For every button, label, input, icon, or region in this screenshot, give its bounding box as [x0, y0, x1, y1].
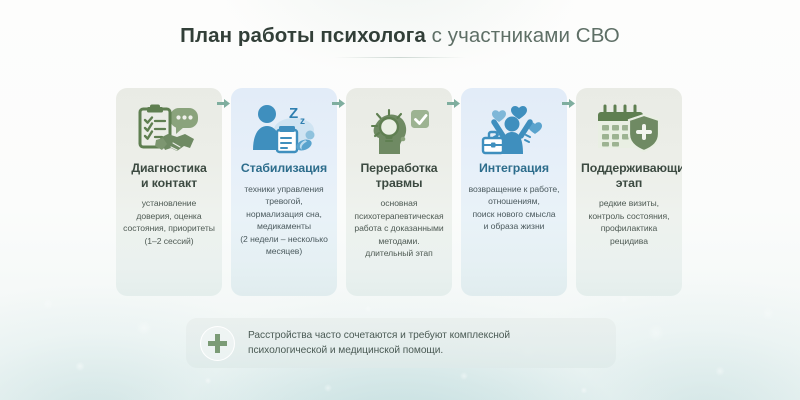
stage-card-title: Переработка травмы — [351, 161, 447, 190]
head-lightbulb-checkbox-icon — [351, 99, 447, 159]
infographic-poster: План работы психолога с участниками СВО — [0, 0, 800, 400]
stage-card-diagnostika[interactable]: Диагностика и контакт установление довер… — [116, 88, 222, 296]
stage-card-list: Диагностика и контакт установление довер… — [116, 88, 684, 296]
stage-card-title: Поддерживающий этап — [581, 161, 677, 190]
clipboard-checklist-handshake-icon — [121, 99, 217, 159]
stage-card-podderzhivayushchiy-etap[interactable]: Поддерживающий этап редкие визиты, контр… — [576, 88, 682, 296]
stage-card-body: возвращение к работе, отношениям, поиск … — [466, 183, 562, 233]
arrow-right-icon — [332, 97, 345, 110]
stage-card-stabilizaciya[interactable]: Z z Стаб — [231, 88, 337, 296]
title-divider — [334, 57, 466, 58]
stage-card-body: техники управления тревогой, нормализаци… — [236, 183, 332, 259]
stage-card-body: установление доверия, оценка состояния, … — [121, 197, 217, 247]
stage-card-title: Стабилизация — [236, 161, 332, 176]
arrow-right-icon — [217, 97, 230, 110]
footer-note-banner: Расстройства часто сочетаются и требуют … — [186, 318, 616, 368]
calendar-shield-plus-icon — [581, 99, 677, 159]
stage-card-title: Диагностика и контакт — [121, 161, 217, 190]
arrow-right-icon — [562, 97, 575, 110]
stage-card-pererabotka-travmy[interactable]: Переработка травмы основная психотерапев… — [346, 88, 452, 296]
svg-text:Z: Z — [289, 105, 298, 122]
person-hearts-briefcase-icon — [466, 99, 562, 159]
page-title-light: с участниками СВО — [426, 24, 620, 47]
stage-card-integraciya[interactable]: Интеграция возвращение к работе, отношен… — [461, 88, 567, 296]
footer-note-text: Расстройства часто сочетаются и требуют … — [248, 328, 510, 358]
svg-text:z: z — [300, 116, 305, 127]
page-title: План работы психолога с участниками СВО — [0, 24, 800, 48]
medical-cross-icon — [200, 326, 235, 361]
person-sleep-medication-icon: Z z — [236, 99, 332, 159]
stage-card-body: основная психотерапевтическая работа с д… — [351, 197, 447, 260]
stage-card-body: редкие визиты, контроль состояния, профи… — [581, 197, 677, 247]
page-title-strong: План работы психолога — [180, 24, 426, 47]
header: План работы психолога с участниками СВО — [0, 24, 800, 58]
stage-card-title: Интеграция — [466, 161, 562, 176]
arrow-right-icon — [447, 97, 460, 110]
